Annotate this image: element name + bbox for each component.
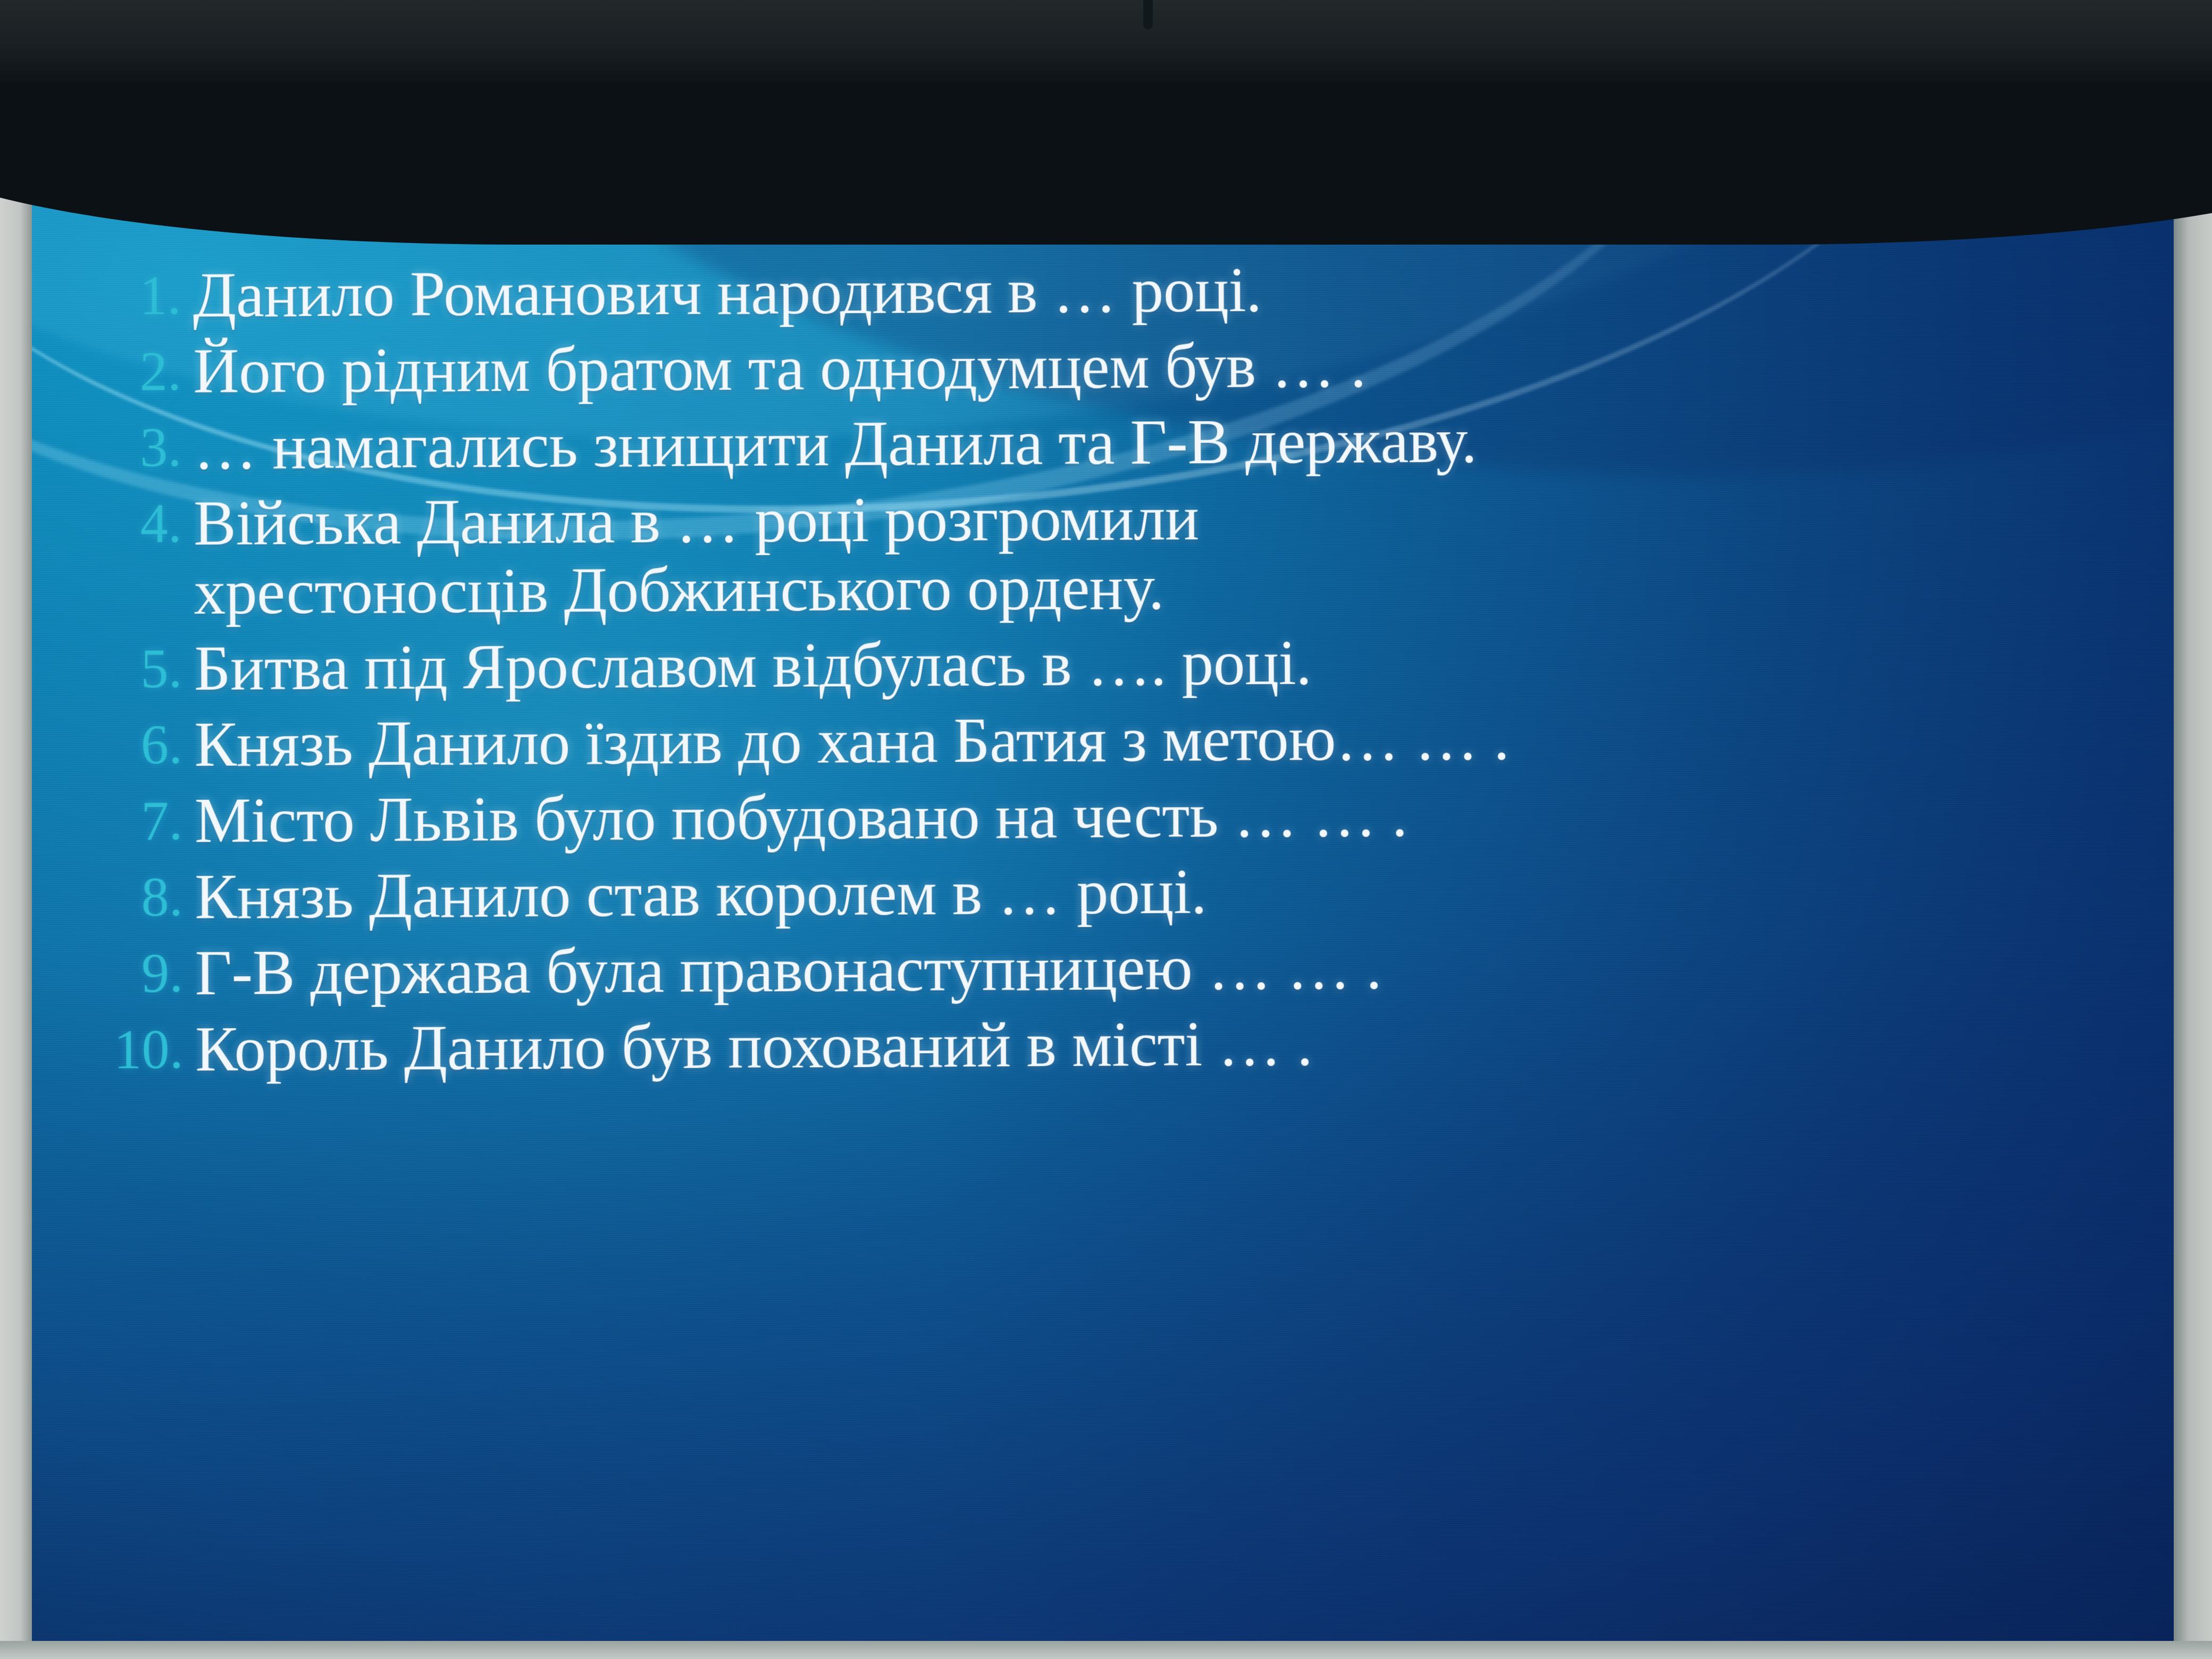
list-item-text: Битва під Ярославом відбулась в …. році.	[194, 624, 2194, 703]
list-item-number: 3.	[15, 413, 194, 483]
list-item-text: Війська Данила в … році розгромили хрест…	[194, 479, 2193, 627]
list-item: 6. Князь Данило їздив до хана Батия з ме…	[16, 700, 2194, 780]
wall-strip-bottom	[0, 1641, 2212, 1659]
list-item-text: Г-В держава була правонаступницею … … .	[195, 928, 2196, 1008]
list-item: 4. Війська Данила в … році розгромили хр…	[16, 479, 2193, 628]
list-item: 5. Битва під Ярославом відбулась в …. ро…	[16, 624, 2193, 704]
list-item: 3. … намагались знищити Данила та Г-В де…	[15, 403, 2192, 483]
list-item-number: 10.	[17, 1015, 195, 1085]
presentation-slide: Закінчити речення 1. Данило Романович на…	[15, 73, 2201, 1659]
list-item-text: Данило Романович народився в … році.	[193, 250, 2191, 330]
list-item-number: 5.	[16, 634, 194, 705]
list-item: 8. Князь Данило став королем в … році.	[17, 852, 2196, 933]
list-item-number: 2.	[15, 337, 194, 407]
list-item-text: Його рідним братом та однодумцем був … .	[193, 326, 2191, 406]
list-item-number: 8.	[17, 862, 195, 933]
projector-photo: Закінчити речення 1. Данило Романович на…	[0, 0, 2212, 1659]
list-item-text: Місто Львів було побудовано на честь … ……	[195, 776, 2195, 856]
list-item-text-line-1: Війська Данила в … році розгромили	[194, 483, 1199, 559]
screen-bezel-top	[0, 0, 2212, 85]
wall-strip-left	[0, 53, 32, 1659]
slide-content: Закінчити речення 1. Данило Романович на…	[15, 73, 2201, 1659]
list-item-text: Король Данило був похований в місті … .	[195, 1004, 2197, 1084]
list-item: 9. Г-В держава була правонаступницею … ……	[17, 928, 2196, 1009]
list-item-text: … намагались знищити Данила та Г-В держа…	[194, 403, 2192, 482]
list-item: 2. Його рідним братом та однодумцем був …	[15, 326, 2191, 407]
wall-strip-right	[2174, 85, 2212, 1659]
list-item-number: 6.	[16, 710, 195, 781]
list-item-text: Князь Данило став королем в … році.	[195, 852, 2196, 932]
list-item-text: Князь Данило їздив до хана Батия з метою…	[194, 700, 2194, 780]
list-item: 7. Місто Львів було побудовано на честь …	[16, 776, 2195, 856]
list-item: 10. Король Данило був похований в місті …	[17, 1004, 2197, 1085]
list-item: 1. Данило Романович народився в … році.	[15, 250, 2191, 331]
list-item-text-line-2: хрестоносців Добжинського ордену.	[194, 548, 2128, 627]
list-item-number: 7.	[16, 786, 195, 857]
list-item-number: 4.	[16, 489, 194, 559]
bezel-notch-icon	[1143, 0, 1153, 29]
numbered-question-list: 1. Данило Романович народився в … році. …	[15, 250, 2197, 1092]
list-item-number: 9.	[17, 939, 195, 1009]
list-item-number: 1.	[15, 261, 193, 331]
